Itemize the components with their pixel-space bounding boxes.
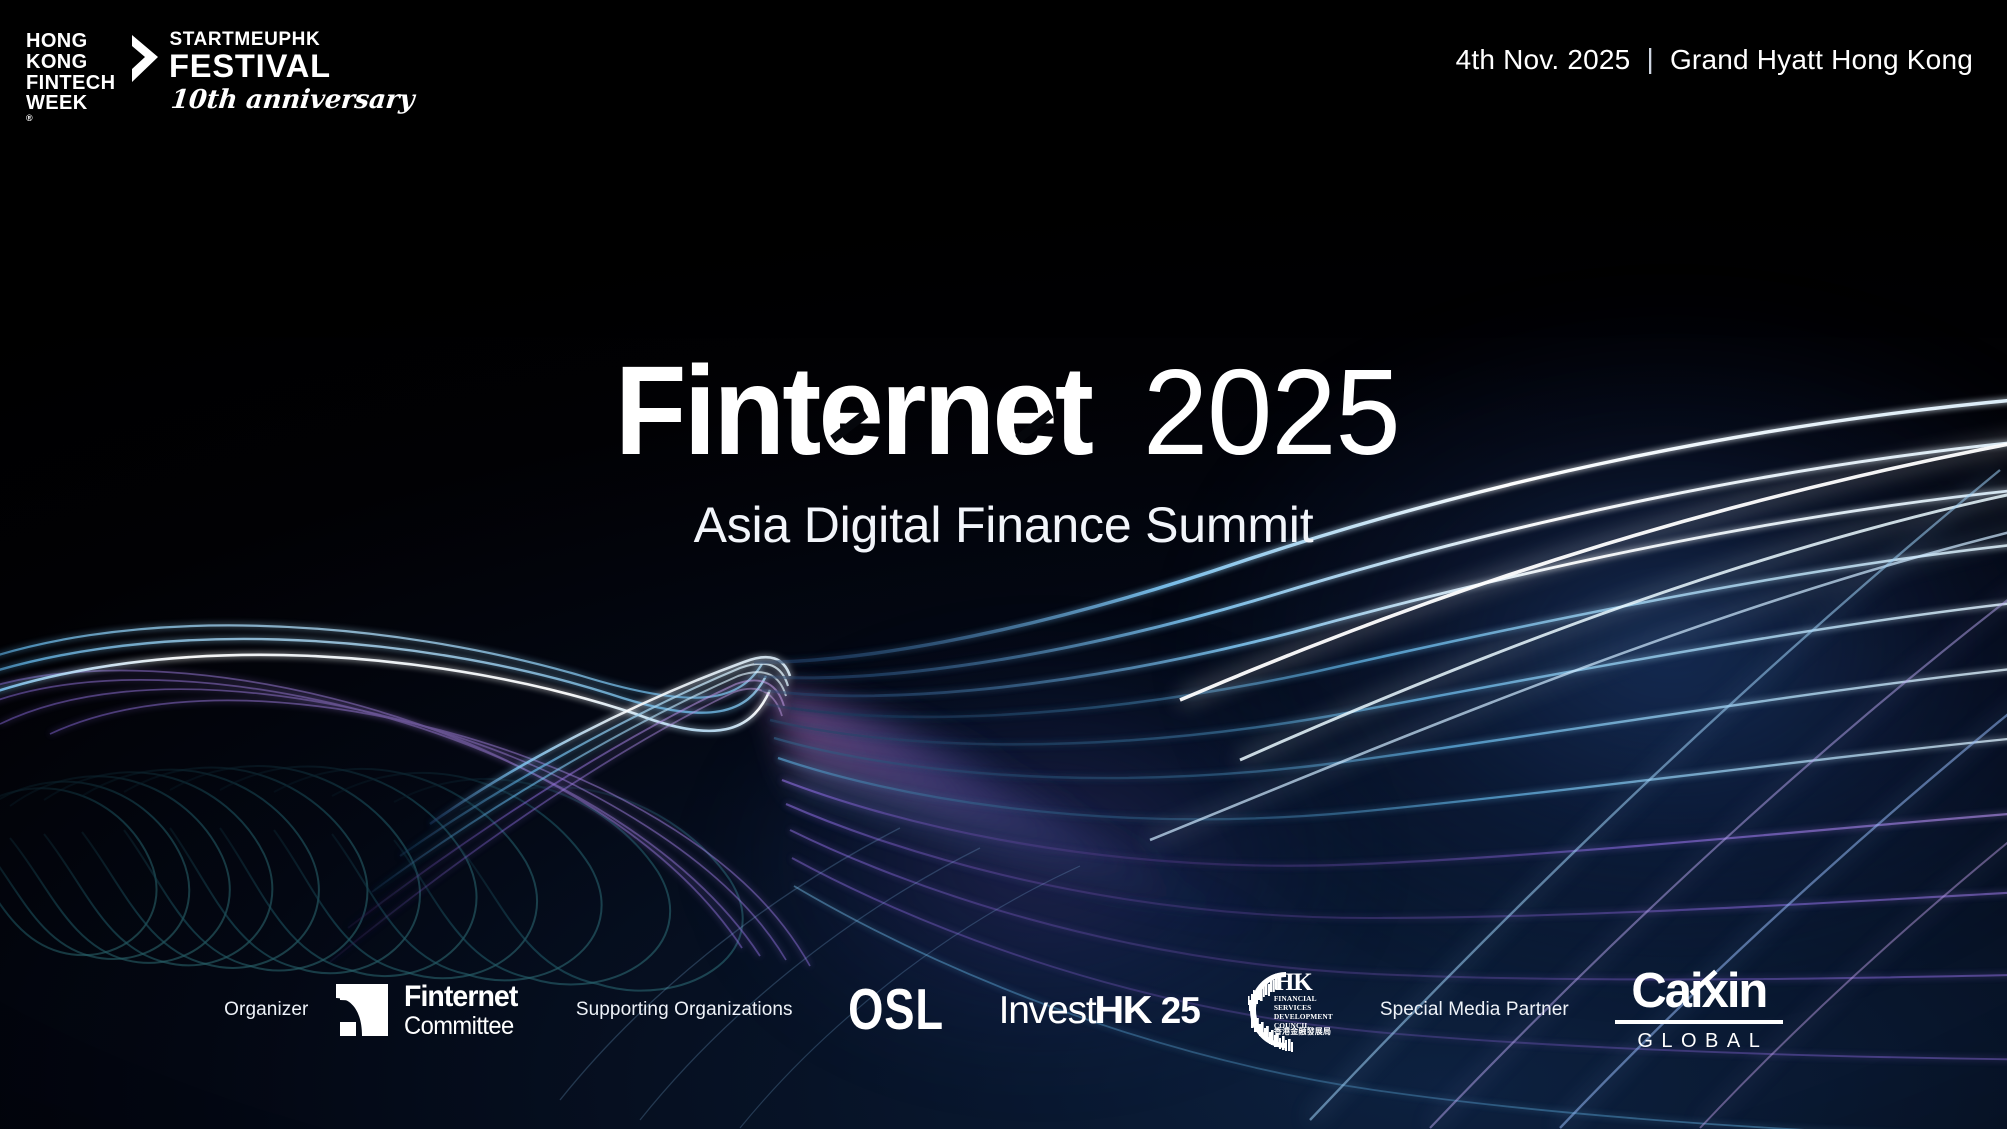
hero-subtitle: Asia Digital Finance Summit xyxy=(0,496,2007,554)
startmeuphk-festival-wordmark: STARTMEUPHK FESTIVAL 10th anniversary xyxy=(169,30,414,113)
finternet-committee-name-line-2: Committee xyxy=(404,1014,517,1039)
caixin-divider xyxy=(1615,1020,1783,1024)
hkftw-line-4: WEEK® xyxy=(26,93,115,123)
fsdc-name-line-3: DEVELOPMENT xyxy=(1274,1012,1328,1021)
finternet-committee-name-line-1: Finternet xyxy=(404,982,517,1012)
hkftw-line-1: HONG xyxy=(26,31,115,52)
event-venue: Grand Hyatt Hong Kong xyxy=(1670,44,1973,76)
hkftw-line-3: FINTECH xyxy=(26,73,115,94)
finternet-committee-wordmark: Finternet Committee xyxy=(404,982,523,1039)
fsdc-monogram: HK xyxy=(1275,970,1312,995)
partner-strip: Organizer Finternet Committee Supporting… xyxy=(0,966,2007,1054)
hero-brand-finternet: Finternet xyxy=(615,348,1091,474)
startmeuphk-line: STARTMEUPHK xyxy=(169,30,414,49)
poster-canvas: HONG KONG FINTECH WEEK® STARTMEUPHK FEST… xyxy=(0,0,2007,1129)
glowing-fiber-vortex-graphic xyxy=(0,0,2007,1129)
supporting-organizations-label: Supporting Organizations xyxy=(576,999,793,1021)
hkftw-wordmark: HONG KONG FINTECH WEEK® xyxy=(26,30,115,124)
hkftw-line-2: KONG xyxy=(26,52,115,73)
finternet-committee-logo: Finternet Committee xyxy=(334,982,523,1039)
special-media-partner-label: Special Media Partner xyxy=(1380,999,1569,1021)
investhk-part-hk: HK xyxy=(1094,991,1150,1030)
organizer-label: Organizer xyxy=(224,999,308,1021)
meta-separator: | xyxy=(1646,43,1653,75)
fsdc-name-line-1: FINANCIAL xyxy=(1274,994,1328,1003)
page-title: Finternet 2025 xyxy=(597,348,1410,474)
caixin-wordmark: Caixin xyxy=(1631,967,1766,1016)
osl-logo: OSL xyxy=(848,981,944,1038)
chevron-right-icon xyxy=(125,32,165,88)
fsdc-chinese-name: 香港金融發展局 xyxy=(1274,1028,1331,1036)
event-date-venue: 4th Nov. 2025 | Grand Hyatt Hong Kong xyxy=(1456,44,1973,76)
hk-fsdc-logo: HK FINANCIAL SERVICES DEVELOPMENT COUNCI… xyxy=(1246,966,1328,1054)
fsdc-name-lines: FINANCIAL SERVICES DEVELOPMENT COUNCIL xyxy=(1274,994,1328,1030)
finternet-committee-mark-icon xyxy=(334,982,390,1038)
caixin-global-logo: Caixin GLOBAL xyxy=(1615,967,1783,1053)
investhk-logo: Invest HK 25 xyxy=(999,991,1200,1030)
registered-mark: ® xyxy=(26,114,115,123)
investhk-part-25: 25 xyxy=(1161,992,1200,1029)
caixin-global-tagline: GLOBAL xyxy=(1629,1030,1768,1053)
hero-block: Finternet 2025 Asia Digital Finance Summ… xyxy=(0,348,2007,554)
hero-year: 2025 xyxy=(1143,351,1400,473)
fsdc-name-line-2: SERVICES xyxy=(1274,1003,1328,1012)
hong-kong-fintech-week-festival-logo: HONG KONG FINTECH WEEK® STARTMEUPHK FEST… xyxy=(26,30,415,124)
investhk-part-invest: Invest xyxy=(999,991,1096,1030)
event-date: 4th Nov. 2025 xyxy=(1456,44,1631,76)
festival-line: FESTIVAL xyxy=(169,50,419,82)
anniversary-line: 10th anniversary xyxy=(170,87,416,113)
